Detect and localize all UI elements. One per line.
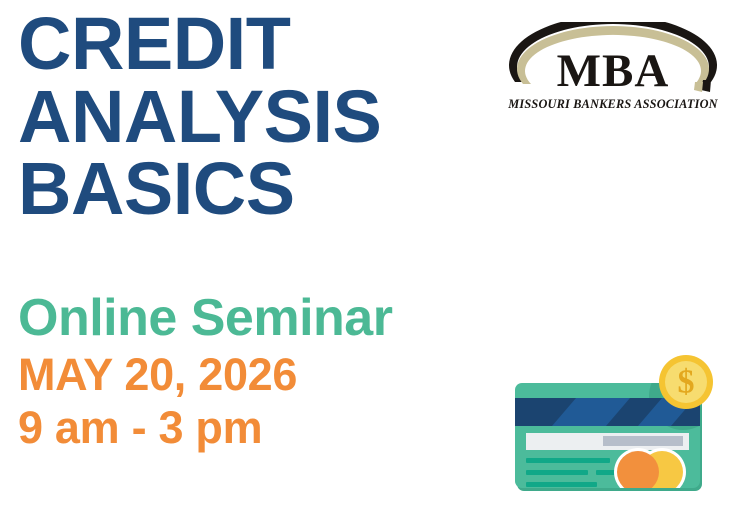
dollar-coin-symbol: $ [678,364,695,401]
mba-wordmark: MBA [507,48,719,95]
poster-canvas: CREDIT ANALYSIS BASICS Online Seminar MA… [0,0,750,525]
mba-tagline: MISSOURI BANKERS ASSOCIATION [507,97,719,112]
credit-card-illustration: $ [490,350,740,515]
page-title: CREDIT ANALYSIS BASICS [18,8,488,226]
headline-line-2: ANALYSIS [18,81,488,154]
headline-line-3: BASICS [18,153,488,226]
event-date-label: MAY 20, 2026 [18,352,498,399]
event-format-label: Online Seminar [18,292,498,344]
headline-line-1: CREDIT [18,8,488,81]
event-details: Online Seminar MAY 20, 2026 9 am - 3 pm [18,292,498,452]
event-time-label: 9 am - 3 pm [18,405,498,452]
mba-logo: MBA MISSOURI BANKERS ASSOCIATION [507,22,719,114]
card-signature-bar [603,436,683,446]
dollar-coin-icon: $ [659,355,713,409]
